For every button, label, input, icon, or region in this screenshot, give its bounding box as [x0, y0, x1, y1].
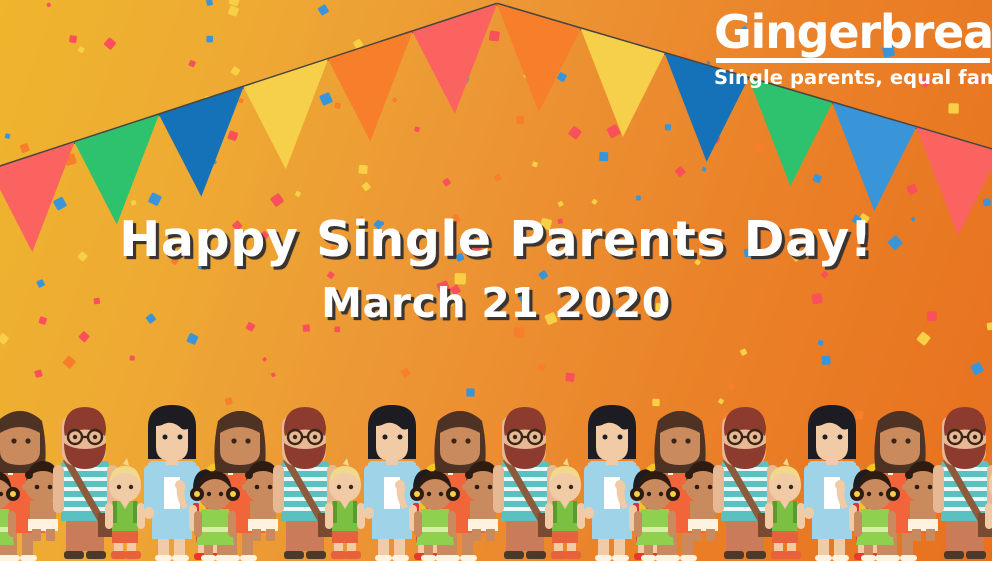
family-group-mother-with-baby-and-girl: [850, 411, 944, 561]
logo-divider: [716, 58, 990, 63]
logo-tagline: Single parents, equal families: [714, 66, 992, 89]
family-group-father-with-boy: [273, 407, 365, 559]
family-group-father-with-boy: [53, 407, 145, 559]
logo-wordmark: Gingerbread: [714, 8, 992, 56]
single-parents-day-banner: Happy Single Parents Day! March 21 2020 …: [0, 0, 992, 561]
family-group-father-with-boy: [713, 407, 805, 559]
family-group-mother-with-baby-and-girl: [190, 411, 284, 561]
family-group-father-with-boy: [493, 407, 585, 559]
family-group-mother-with-baby-and-girl: [410, 411, 504, 561]
family-group-father-with-boy: [933, 407, 992, 559]
family-group-mother-with-baby-and-girl: [630, 411, 724, 561]
gingerbread-logo[interactable]: Gingerbread Single parents, equal famili…: [714, 8, 992, 89]
